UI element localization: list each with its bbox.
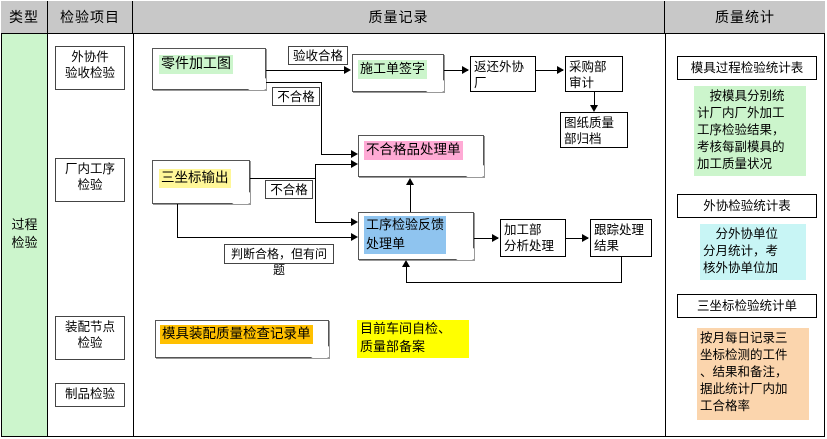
arrow-drawing-to-worksign-line: [266, 70, 344, 71]
arrow-worksign-to-return-head: [462, 66, 469, 74]
stat-desc-cmm: 按月每日记录三 坐标检测的工件 、结果和备注， 据此统计厂内加 工合格率: [697, 328, 809, 420]
process-machining-analysis[interactable]: 加工部 分析处理: [500, 219, 566, 257]
divider-item-record: [133, 33, 134, 436]
doc-part-drawing-label: 零件加工图: [159, 55, 233, 74]
arrow-track-loop-head: [402, 260, 410, 267]
dogear-icon: [456, 248, 474, 260]
dogear-icon: [232, 192, 250, 204]
arrow-cmm-fail-to-fb: [315, 222, 351, 223]
doc-work-order-signature-label: 施工单签字: [358, 60, 427, 79]
quality-record-flowchart-page: 类型 检验项目 质量记录 质量统计 过程 检验 外协件 验收检验 厂内工序 检验…: [0, 0, 827, 439]
edge-label-fail-row1: 不合格: [272, 87, 320, 106]
note-workshop-self-check: 目前车间自检、 质量部备案: [357, 320, 469, 358]
column-header-item: 检验项目: [48, 1, 133, 33]
arrow-drawing-fail-v: [321, 82, 322, 154]
doc-assembly-quality-check-record-label: 模具装配质量检查记录单: [160, 325, 313, 344]
stat-desc-outsourced: 分外协单位 分月统计，考 核外协单位加: [700, 224, 806, 280]
edge-label-pass-with-issue: 判断合格，但有问题: [224, 244, 334, 264]
arrow-cmm-issue-h: [177, 237, 351, 238]
dogear-icon: [466, 165, 484, 177]
column-header-type: 类型: [1, 1, 48, 33]
stat-title-outsourced[interactable]: 外协检验统计表: [677, 194, 817, 218]
column-header-record: 质量记录: [133, 1, 665, 33]
arrow-cmm-fail-to-fb-head: [351, 218, 358, 226]
type-cell-label: 过程 检验: [11, 217, 37, 253]
arrow-machining-to-track-head: [582, 234, 589, 242]
arrow-track-loop-h: [406, 282, 622, 283]
arrow-drawing-to-worksign-head: [344, 66, 351, 74]
arrow-return-to-purchase-head: [557, 66, 564, 74]
doc-cmm-output-label: 三坐标输出: [159, 169, 231, 188]
doc-work-order-signature[interactable]: 施工单签字: [352, 54, 444, 92]
doc-process-inspection-feedback[interactable]: 工序检验反馈 处理单: [358, 212, 474, 260]
dogear-icon: [248, 78, 266, 90]
arrow-purchase-to-archive-head: [590, 105, 598, 112]
stat-title-mold-process[interactable]: 模具过程检验统计表: [677, 56, 817, 80]
inspection-item-outsourced-acceptance[interactable]: 外协件 验收检验: [55, 46, 125, 90]
edge-label-fail-row2: 不合格: [265, 180, 313, 199]
stat-desc-mold-process: 按模具分别统 计厂内厂外加工 工序检验结果， 考核每副模具的 加工质量状况: [694, 86, 806, 176]
arrow-cmm-fail-to-nc: [315, 164, 351, 165]
process-purchase-audit[interactable]: 采购部 审计: [565, 56, 623, 92]
arrow-drawing-fail-head: [351, 150, 358, 158]
doc-nonconforming-handling-label: 不合格品处理单: [364, 141, 463, 160]
doc-part-drawing[interactable]: 零件加工图: [152, 48, 266, 90]
process-drawing-archive[interactable]: 图纸质量 部归档: [560, 112, 628, 148]
arrow-drawing-fail-h2: [321, 154, 351, 155]
doc-assembly-quality-check-record[interactable]: 模具装配质量检查记录单: [155, 320, 329, 358]
inspection-item-in-plant-process[interactable]: 厂内工序 检验: [55, 158, 125, 202]
doc-process-inspection-feedback-label: 工序检验反馈 处理单: [364, 216, 446, 254]
arrow-fb-to-nc-head: [406, 178, 414, 185]
column-header-stats: 质量统计: [665, 1, 825, 33]
arrow-cmm-fail-v: [315, 164, 316, 222]
type-cell-process-inspection: 过程 检验: [2, 34, 47, 436]
inspection-item-assembly-node[interactable]: 装配节点 检验: [55, 316, 125, 360]
arrow-fb-to-machining-head: [492, 234, 499, 242]
process-return-to-supplier[interactable]: 返还外协 厂: [470, 56, 536, 92]
divider-type-item: [47, 33, 48, 436]
doc-nonconforming-handling[interactable]: 不合格品处理单: [358, 135, 484, 177]
stat-title-cmm[interactable]: 三坐标检验统计单: [677, 294, 817, 318]
divider-record-stats: [665, 33, 666, 436]
dogear-icon: [311, 346, 329, 358]
arrow-cmm-fail-h1: [250, 178, 315, 179]
header-divider: [1, 33, 825, 34]
arrow-track-loop-v2: [406, 267, 407, 282]
doc-cmm-output[interactable]: 三坐标输出: [152, 160, 250, 204]
arrow-cmm-issue-head: [351, 233, 358, 241]
dogear-icon: [426, 80, 444, 92]
arrow-fb-to-nc-line: [410, 185, 411, 212]
process-track-result[interactable]: 跟踪处理 结果: [590, 219, 652, 257]
arrow-track-loop-v1: [621, 257, 622, 282]
arrow-cmm-issue-v: [177, 204, 178, 237]
arrow-drawing-fail-h1: [266, 82, 321, 83]
arrow-cmm-fail-to-nc-head: [351, 160, 358, 168]
edge-label-acceptance-pass: 验收合格: [288, 46, 348, 65]
inspection-item-product[interactable]: 制品检验: [55, 383, 125, 407]
